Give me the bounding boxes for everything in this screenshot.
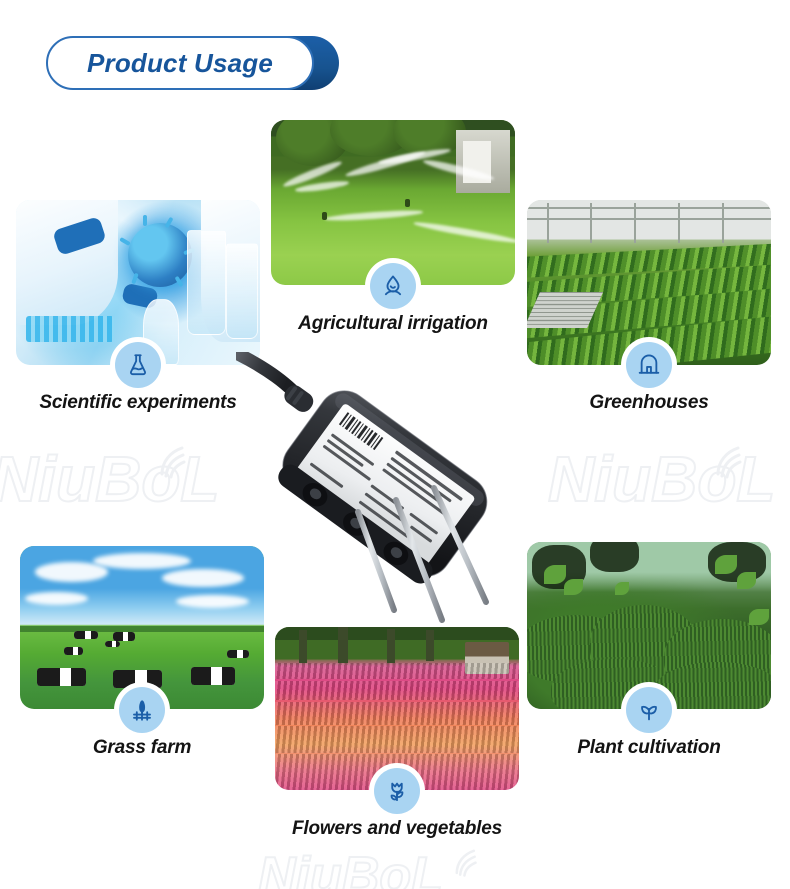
badge-plant-cultivation bbox=[621, 682, 677, 738]
sprout-icon bbox=[636, 697, 662, 723]
water-drop-icon bbox=[380, 273, 406, 299]
flask-icon bbox=[125, 352, 151, 378]
caption-scientific-experiments: Scientific experiments bbox=[16, 392, 260, 414]
tulip-icon bbox=[384, 778, 410, 804]
sensor-body bbox=[269, 381, 497, 592]
badge-disc bbox=[626, 687, 672, 733]
watermark-signal-icon-bottom bbox=[448, 844, 486, 878]
page-title-text: Product Usage bbox=[87, 48, 273, 79]
product-usage-page: Product Usage NiuBoL NiuBoL NiuBoL bbox=[0, 0, 790, 889]
badge-disc bbox=[374, 768, 420, 814]
badge-disc bbox=[626, 342, 672, 388]
badge-disc bbox=[115, 342, 161, 388]
badge-agricultural-irrigation bbox=[365, 258, 421, 314]
badge-grass-farm bbox=[114, 682, 170, 738]
watermark-signal-icon-right bbox=[708, 440, 752, 480]
fence-tree-icon bbox=[129, 697, 155, 723]
caption-flowers-and-vegetables: Flowers and vegetables bbox=[275, 818, 519, 840]
watermark-right: NiuBoL bbox=[548, 442, 776, 516]
badge-disc bbox=[119, 687, 165, 733]
title-pill: Product Usage bbox=[46, 36, 314, 90]
watermark-bottom: NiuBoL bbox=[258, 846, 443, 889]
badge-scientific-experiments bbox=[110, 337, 166, 393]
watermark-left: NiuBoL bbox=[0, 442, 220, 516]
caption-plant-cultivation: Plant cultivation bbox=[527, 737, 771, 759]
soil-sensor-product-image bbox=[236, 352, 536, 637]
page-title: Product Usage bbox=[46, 36, 339, 90]
caption-agricultural-irrigation: Agricultural irrigation bbox=[271, 313, 515, 335]
badge-flowers-and-vegetables bbox=[369, 763, 425, 819]
caption-grass-farm: Grass farm bbox=[20, 737, 264, 759]
greenhouse-icon bbox=[636, 352, 662, 378]
caption-greenhouses: Greenhouses bbox=[527, 392, 771, 414]
badge-greenhouses bbox=[621, 337, 677, 393]
watermark-signal-icon bbox=[152, 440, 196, 480]
sensor-cable bbox=[238, 354, 294, 392]
badge-disc bbox=[370, 263, 416, 309]
